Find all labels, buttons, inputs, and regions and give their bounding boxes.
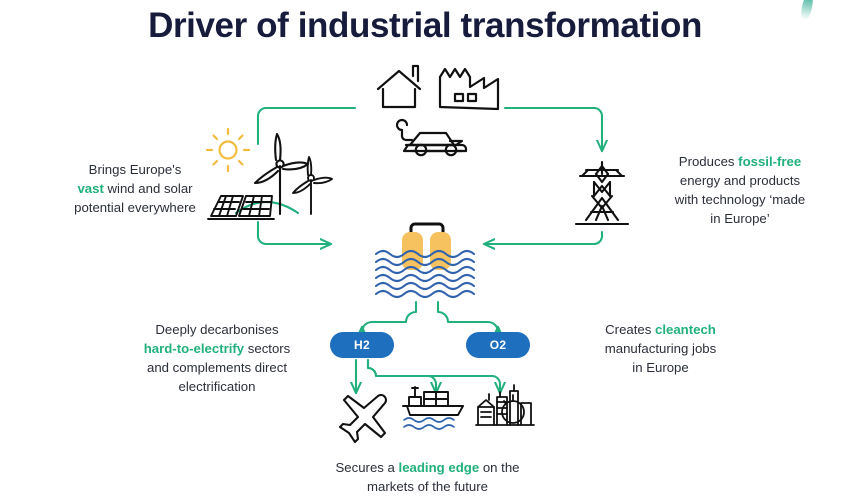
lower-right-line-2: manufacturing jobs xyxy=(605,341,716,356)
lower-left-line-1: Deeply decarbonises xyxy=(155,322,278,337)
lower-right-line-3: in Europe xyxy=(632,360,688,375)
electrolyser-icon xyxy=(376,224,474,297)
diagram-graphics xyxy=(0,0,850,499)
electric-car-icon xyxy=(397,120,466,155)
wind-turbine-icon xyxy=(293,157,332,214)
connector-h2-to-plant xyxy=(368,360,500,392)
connector-electrolyser-to-h2 xyxy=(362,302,416,332)
connector-renewables-to-electrolyser xyxy=(258,222,330,244)
oxygen-pill[interactable]: O2 xyxy=(466,332,530,358)
text-block-leading-edge: Secures a leading edge on the markets of… xyxy=(295,458,560,496)
connector-electrolyser-to-o2 xyxy=(438,302,498,332)
text-block-renewables: Brings Europe's vast wind and solar pote… xyxy=(40,160,230,217)
hydrogen-pill[interactable]: H2 xyxy=(330,332,394,358)
ship-water-waves xyxy=(404,418,454,429)
right-line-2: energy and products xyxy=(680,173,800,188)
airplane-icon xyxy=(340,395,386,442)
power-pylon-icon xyxy=(576,162,628,224)
lower-right-line-1-pre: Creates xyxy=(605,322,655,337)
bottom-line-2: markets of the future xyxy=(367,479,488,494)
left-line-2-rest: wind and solar xyxy=(104,181,193,196)
lower-left-line-2-rest: sectors xyxy=(244,341,290,356)
right-line-3: with technology ‘made xyxy=(675,192,805,207)
bottom-pre: Secures a xyxy=(336,460,399,475)
text-block-fossil-free: Produces fossil-free energy and products… xyxy=(640,152,840,228)
lower-left-line-4: electrification xyxy=(179,379,256,394)
text-block-decarbonisation: Deeply decarbonises hard-to-electrify se… xyxy=(112,320,322,396)
right-line-4: in Europe’ xyxy=(710,211,769,226)
connector-pylon-to-electrolyser xyxy=(485,232,602,244)
left-line-3: potential everywhere xyxy=(74,200,196,215)
right-line-1-pre: Produces xyxy=(679,154,738,169)
left-highlight: vast xyxy=(77,181,103,196)
right-highlight: fossil-free xyxy=(738,154,801,169)
infographic-canvas: Driver of industrial transformation xyxy=(0,0,850,499)
connector-top-to-renewables xyxy=(258,108,355,144)
industrial-plant-icon xyxy=(476,385,534,425)
bottom-post: on the xyxy=(479,460,519,475)
lower-right-highlight: cleantech xyxy=(655,322,716,337)
lower-left-highlight: hard-to-electrify xyxy=(144,341,244,356)
bottom-highlight: leading edge xyxy=(399,460,480,475)
house-icon xyxy=(378,66,420,107)
cargo-ship-icon xyxy=(403,387,463,415)
factory-icon xyxy=(440,69,498,109)
left-line-1: Brings Europe's xyxy=(89,162,182,177)
connector-top-to-pylon xyxy=(505,108,602,150)
lower-left-line-3: and complements direct xyxy=(147,360,287,375)
hill-arc xyxy=(236,202,298,213)
text-block-cleantech-jobs: Creates cleantech manufacturing jobs in … xyxy=(563,320,758,377)
